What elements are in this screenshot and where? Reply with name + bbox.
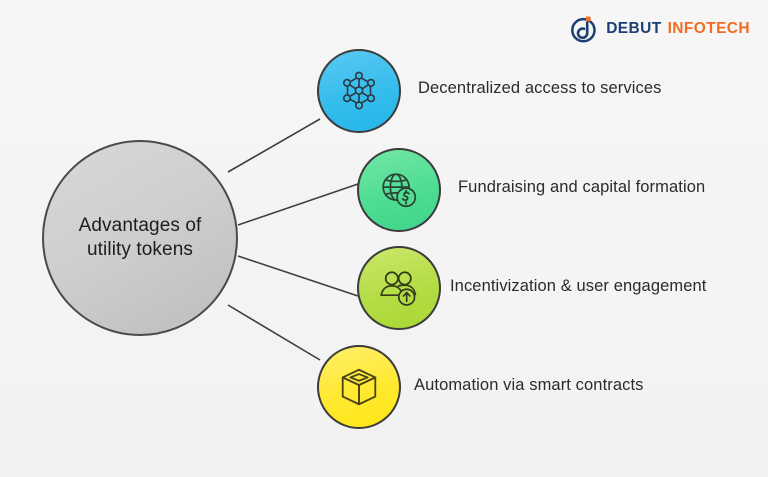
connector-line-2 <box>238 184 358 225</box>
brand-name-secondary: INFOTECH <box>668 20 750 38</box>
connector-line-4 <box>228 305 320 360</box>
brand-wordmark: DEBUT INFOTECH <box>606 20 750 38</box>
connector-line-1 <box>228 119 320 172</box>
hub-label: Advantages of utility tokens <box>67 214 214 263</box>
users-arrow-up-icon <box>376 265 422 311</box>
hub-circle[interactable]: Advantages of utility tokens <box>42 140 238 336</box>
brand-logo[interactable]: DEBUT INFOTECH <box>571 14 750 44</box>
globe-dollar-icon <box>376 167 422 213</box>
node-circle-automation[interactable] <box>317 345 401 429</box>
cube-box-icon <box>336 364 382 410</box>
infographic-canvas: Advantages of utility tokens <box>0 0 768 477</box>
node-circle-incentivization[interactable] <box>357 246 441 330</box>
connector-line-3 <box>238 256 358 296</box>
node-label-automation: Automation via smart contracts <box>414 376 644 395</box>
network-nodes-icon <box>336 68 382 114</box>
brand-name-primary: DEBUT <box>606 20 661 38</box>
node-circle-decentralized-access[interactable] <box>317 49 401 133</box>
node-label-decentralized-access: Decentralized access to services <box>418 79 661 98</box>
node-label-fundraising: Fundraising and capital formation <box>458 178 705 197</box>
node-label-incentivization: Incentivization & user engagement <box>450 277 706 296</box>
node-circle-fundraising[interactable] <box>357 148 441 232</box>
debut-d-logo-icon <box>571 15 599 43</box>
